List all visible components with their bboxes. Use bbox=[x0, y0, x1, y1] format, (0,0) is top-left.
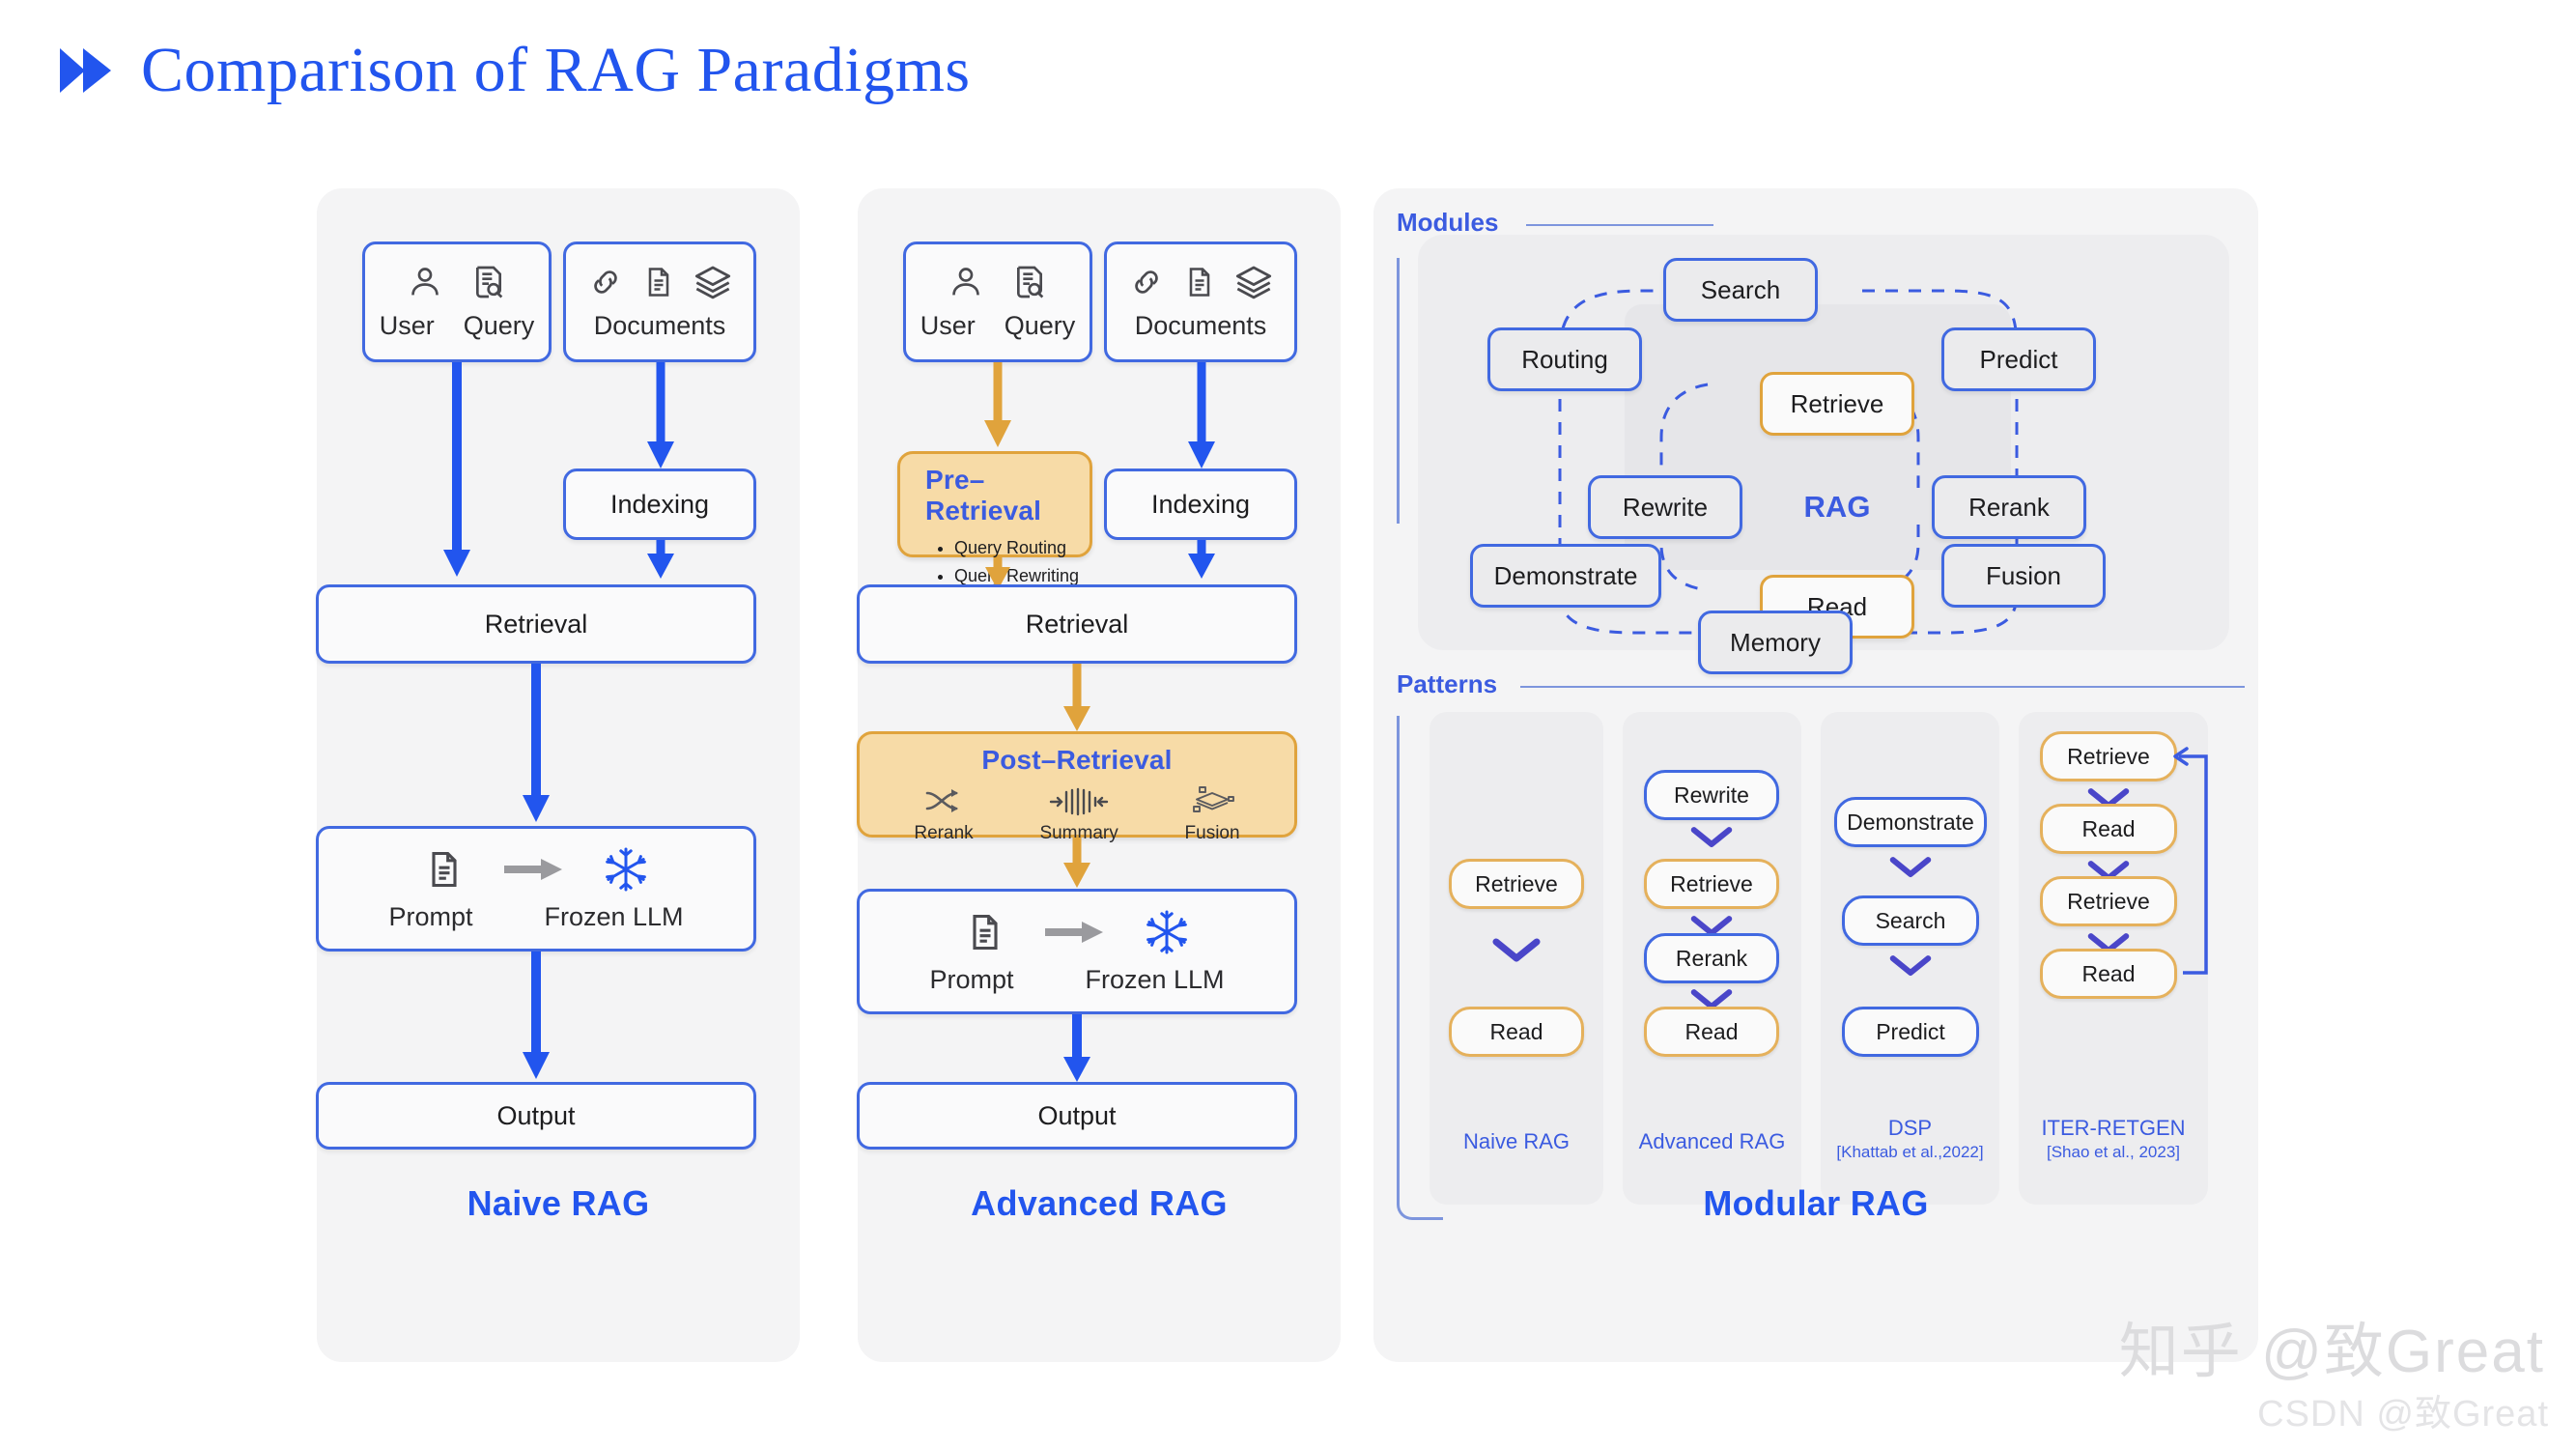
pattern-step-label: Search bbox=[1876, 908, 1946, 934]
node-retrieval[interactable]: Retrieval bbox=[316, 584, 756, 664]
pattern-name-iterretgen: ITER-RETGEN bbox=[2019, 1116, 2208, 1141]
module-node-memory[interactable]: Memory bbox=[1698, 611, 1853, 674]
section-rule-modules bbox=[1526, 224, 1713, 226]
link-icon bbox=[1128, 264, 1165, 300]
node-output-label: Output bbox=[496, 1101, 575, 1131]
arrow-documents-to-indexing-adv bbox=[1184, 362, 1219, 470]
pattern-step-label: Retrieve bbox=[2067, 889, 2150, 915]
prompt-document-icon bbox=[423, 848, 466, 891]
arrow-retrieval-to-postretrieval bbox=[1060, 664, 1094, 733]
compress-icon bbox=[1049, 787, 1109, 816]
node-indexing-adv[interactable]: Indexing bbox=[1104, 469, 1297, 540]
pattern-name-naive: Naive RAG bbox=[1430, 1129, 1603, 1154]
pattern-step[interactable]: Rerank bbox=[1644, 933, 1779, 983]
pattern-step-label: Demonstrate bbox=[1847, 810, 1974, 836]
prompt-llm-icons bbox=[423, 846, 649, 893]
post-item-rerank-label: Rerank bbox=[914, 823, 973, 844]
post-retrieval-icons: Rerank Summary bbox=[860, 776, 1294, 844]
link-icon bbox=[587, 264, 624, 300]
module-node-predict[interactable]: Predict bbox=[1941, 327, 2096, 391]
panel-advanced-rag: User Query Documents bbox=[858, 188, 1341, 1362]
module-memory-label: Memory bbox=[1730, 628, 1821, 658]
node-user-query[interactable]: User Query bbox=[362, 241, 552, 362]
documents-labels: Documents bbox=[594, 311, 726, 341]
node-prompt-frozen-llm-adv[interactable]: Prompt Frozen LLM bbox=[857, 889, 1297, 1014]
pattern-step-label: Predict bbox=[1876, 1019, 1945, 1045]
module-node-fusion[interactable]: Fusion bbox=[1941, 544, 2106, 608]
pattern-step[interactable]: Read bbox=[2040, 804, 2177, 854]
pattern-citation-dsp: [Khattab et al.,2022] bbox=[1821, 1143, 1999, 1162]
pattern-step-label: Read bbox=[2082, 816, 2136, 842]
node-indexing[interactable]: Indexing bbox=[563, 469, 756, 540]
page-title: Comparison of RAG Paradigms bbox=[58, 34, 971, 107]
pattern-step-label: Retrieve bbox=[2067, 744, 2150, 770]
post-item-rerank: Rerank bbox=[914, 787, 973, 844]
pattern-step[interactable]: Retrieve bbox=[1449, 859, 1584, 909]
list-item: Query Routing bbox=[954, 534, 1090, 562]
section-label-modules: Modules bbox=[1397, 208, 1498, 238]
node-output-adv[interactable]: Output bbox=[857, 1082, 1297, 1150]
pattern-step-label: Retrieve bbox=[1670, 871, 1753, 897]
label-frozen-llm: Frozen LLM bbox=[1085, 965, 1224, 995]
label-query: Query bbox=[1005, 311, 1076, 341]
module-retrieve-label: Retrieve bbox=[1791, 389, 1884, 419]
pattern-step-label: Rewrite bbox=[1674, 782, 1749, 809]
box-pre-retrieval[interactable]: Pre–Retrieval Query Routing Query Rewrit… bbox=[897, 451, 1092, 557]
pattern-step[interactable]: Read bbox=[1449, 1007, 1584, 1057]
arrow-indexing-to-retrieval-adv bbox=[1184, 540, 1219, 581]
pattern-citation-iterretgen: [Shao et al., 2023] bbox=[2019, 1143, 2208, 1162]
document-icon bbox=[641, 265, 676, 299]
label-prompt: Prompt bbox=[388, 902, 472, 932]
module-demonstrate-label: Demonstrate bbox=[1494, 561, 1638, 591]
pattern-column-advanced: Rewrite Retrieve Rerank Read Advanced RA… bbox=[1623, 712, 1801, 1205]
arrow-indexing-to-retrieval bbox=[643, 540, 678, 581]
node-documents[interactable]: Documents bbox=[563, 241, 756, 362]
chevron-down-icon bbox=[1687, 825, 1736, 850]
module-node-retrieve[interactable]: Retrieve bbox=[1760, 372, 1914, 436]
post-item-fusion-label: Fusion bbox=[1185, 823, 1240, 844]
watermark-csdn: CSDN @致Great bbox=[2257, 1383, 2549, 1436]
section-rule-patterns bbox=[1520, 686, 2245, 688]
module-predict-label: Predict bbox=[1980, 345, 2058, 375]
module-node-search[interactable]: Search bbox=[1663, 258, 1818, 322]
label-prompt: Prompt bbox=[929, 965, 1013, 995]
module-node-rewrite[interactable]: Rewrite bbox=[1588, 475, 1742, 539]
shuffle-icon bbox=[924, 787, 963, 816]
documents-icons bbox=[587, 263, 732, 301]
pattern-step[interactable]: Demonstrate bbox=[1834, 797, 1987, 847]
label-user: User bbox=[920, 311, 976, 341]
panel-naive-rag: User Query Documents bbox=[317, 188, 800, 1362]
label-documents: Documents bbox=[1135, 311, 1267, 341]
label-documents: Documents bbox=[594, 311, 726, 341]
user-icon bbox=[406, 263, 444, 301]
module-search-label: Search bbox=[1701, 275, 1780, 305]
snowflake-icon bbox=[1144, 909, 1190, 955]
triangle-right-icon bbox=[58, 45, 114, 96]
node-user-query-adv[interactable]: User Query bbox=[903, 241, 1092, 362]
prompt-llm-icons-adv bbox=[964, 909, 1190, 955]
post-item-summary: Summary bbox=[1039, 787, 1118, 844]
module-rerank-label: Rerank bbox=[1968, 493, 2050, 523]
pattern-step[interactable]: Retrieve bbox=[1644, 859, 1779, 909]
query-document-icon bbox=[469, 263, 508, 301]
node-output-label-adv: Output bbox=[1037, 1101, 1116, 1131]
slide-canvas: Comparison of RAG Paradigms User Query bbox=[0, 0, 2576, 1449]
bracket-modules bbox=[1397, 258, 1400, 524]
pattern-column-iterretgen: Retrieve Read Retrieve Read bbox=[2019, 712, 2208, 1205]
pre-retrieval-title: Pre–Retrieval bbox=[900, 454, 1090, 526]
pattern-step[interactable]: Retrieve bbox=[2040, 876, 2177, 926]
pattern-column-dsp: Demonstrate Search Predict DSP [Khattab … bbox=[1821, 712, 1999, 1205]
pattern-step-label: Read bbox=[1685, 1019, 1739, 1045]
pattern-step[interactable]: Search bbox=[1842, 895, 1979, 946]
label-query: Query bbox=[464, 311, 535, 341]
pattern-name-dsp: DSP bbox=[1821, 1116, 1999, 1141]
module-node-routing[interactable]: Routing bbox=[1487, 327, 1642, 391]
pattern-step-label: Read bbox=[2082, 961, 2136, 987]
post-item-fusion: Fusion bbox=[1185, 785, 1240, 844]
pattern-step-label: Read bbox=[1490, 1019, 1543, 1045]
node-documents-adv[interactable]: Documents bbox=[1104, 241, 1297, 362]
module-node-demonstrate[interactable]: Demonstrate bbox=[1470, 544, 1661, 608]
pattern-column-naive: Retrieve Read Naive RAG bbox=[1430, 712, 1603, 1205]
user-icon bbox=[947, 263, 985, 301]
pattern-step[interactable]: Read bbox=[2040, 949, 2177, 999]
panel-caption-naive: Naive RAG bbox=[317, 1183, 800, 1224]
node-retrieval-label-adv: Retrieval bbox=[1026, 610, 1129, 639]
watermark-zhihu: 知乎 @致Great bbox=[2119, 1302, 2545, 1389]
module-rewrite-label: Rewrite bbox=[1623, 493, 1708, 523]
node-retrieval-adv[interactable]: Retrieval bbox=[857, 584, 1297, 664]
arrow-retrieval-to-prompt bbox=[519, 664, 553, 824]
box-post-retrieval[interactable]: Post–Retrieval Rerank bbox=[857, 731, 1297, 838]
iterative-feedback-loop-arrow bbox=[2164, 741, 2222, 982]
chevron-down-icon bbox=[1492, 936, 1541, 965]
arrow-documents-to-indexing bbox=[643, 362, 678, 470]
page-title-text: Comparison of RAG Paradigms bbox=[141, 34, 971, 107]
prompt-document-icon bbox=[964, 911, 1006, 953]
arrow-postretrieval-to-prompt bbox=[1060, 838, 1094, 890]
layers-icon bbox=[1234, 263, 1273, 301]
section-label-patterns: Patterns bbox=[1397, 669, 1497, 699]
arrow-prompt-to-output bbox=[519, 952, 553, 1081]
user-query-icons-adv bbox=[947, 263, 1049, 301]
rag-label-text: RAG bbox=[1804, 490, 1871, 525]
panel-caption-modular: Modular RAG bbox=[1373, 1183, 2258, 1224]
node-indexing-label-adv: Indexing bbox=[1151, 490, 1250, 520]
module-center-rag-label: RAG bbox=[1760, 475, 1914, 539]
documents-icons-adv bbox=[1128, 263, 1273, 301]
prompt-llm-labels: Prompt Frozen LLM bbox=[388, 902, 683, 932]
prompt-llm-labels-adv: Prompt Frozen LLM bbox=[929, 965, 1224, 995]
pattern-step-label: Rerank bbox=[1676, 946, 1747, 972]
panel-caption-advanced: Advanced RAG bbox=[858, 1183, 1341, 1224]
node-retrieval-label: Retrieval bbox=[485, 610, 588, 639]
pattern-step-label: Retrieve bbox=[1475, 871, 1558, 897]
query-document-icon bbox=[1010, 263, 1049, 301]
pattern-name-advanced: Advanced RAG bbox=[1623, 1129, 1801, 1154]
chevron-down-icon bbox=[1886, 855, 1935, 880]
label-user: User bbox=[380, 311, 435, 341]
right-arrow-icon bbox=[1045, 920, 1105, 945]
post-retrieval-title: Post–Retrieval bbox=[860, 734, 1294, 776]
right-arrow-icon bbox=[504, 857, 564, 882]
panel-modular-rag: Modules bbox=[1373, 188, 2258, 1362]
pattern-step[interactable]: Predict bbox=[1842, 1007, 1979, 1057]
snowflake-icon bbox=[603, 846, 649, 893]
chevron-down-icon bbox=[1886, 953, 1935, 979]
pattern-step[interactable]: Retrieve bbox=[2040, 731, 2177, 781]
node-indexing-label: Indexing bbox=[610, 490, 709, 520]
node-output[interactable]: Output bbox=[316, 1082, 756, 1150]
pattern-step[interactable]: Read bbox=[1644, 1007, 1779, 1057]
user-query-icons bbox=[406, 263, 508, 301]
layers-icon bbox=[694, 263, 732, 301]
user-query-labels-adv: User Query bbox=[920, 311, 1076, 341]
arrow-query-to-retrieval bbox=[439, 362, 474, 579]
node-prompt-frozen-llm[interactable]: Prompt Frozen LLM bbox=[316, 826, 756, 952]
module-fusion-label: Fusion bbox=[1986, 561, 2061, 591]
document-icon bbox=[1182, 265, 1217, 299]
arrow-prompt-to-output-adv bbox=[1060, 1014, 1094, 1084]
user-query-labels: User Query bbox=[380, 311, 535, 341]
documents-labels-adv: Documents bbox=[1135, 311, 1267, 341]
pattern-step[interactable]: Rewrite bbox=[1644, 770, 1779, 820]
module-node-rerank[interactable]: Rerank bbox=[1932, 475, 2086, 539]
label-frozen-llm: Frozen LLM bbox=[544, 902, 683, 932]
module-routing-label: Routing bbox=[1521, 345, 1608, 375]
layers-fusion-icon bbox=[1189, 785, 1235, 816]
arrow-query-to-preretrieval bbox=[980, 362, 1015, 449]
